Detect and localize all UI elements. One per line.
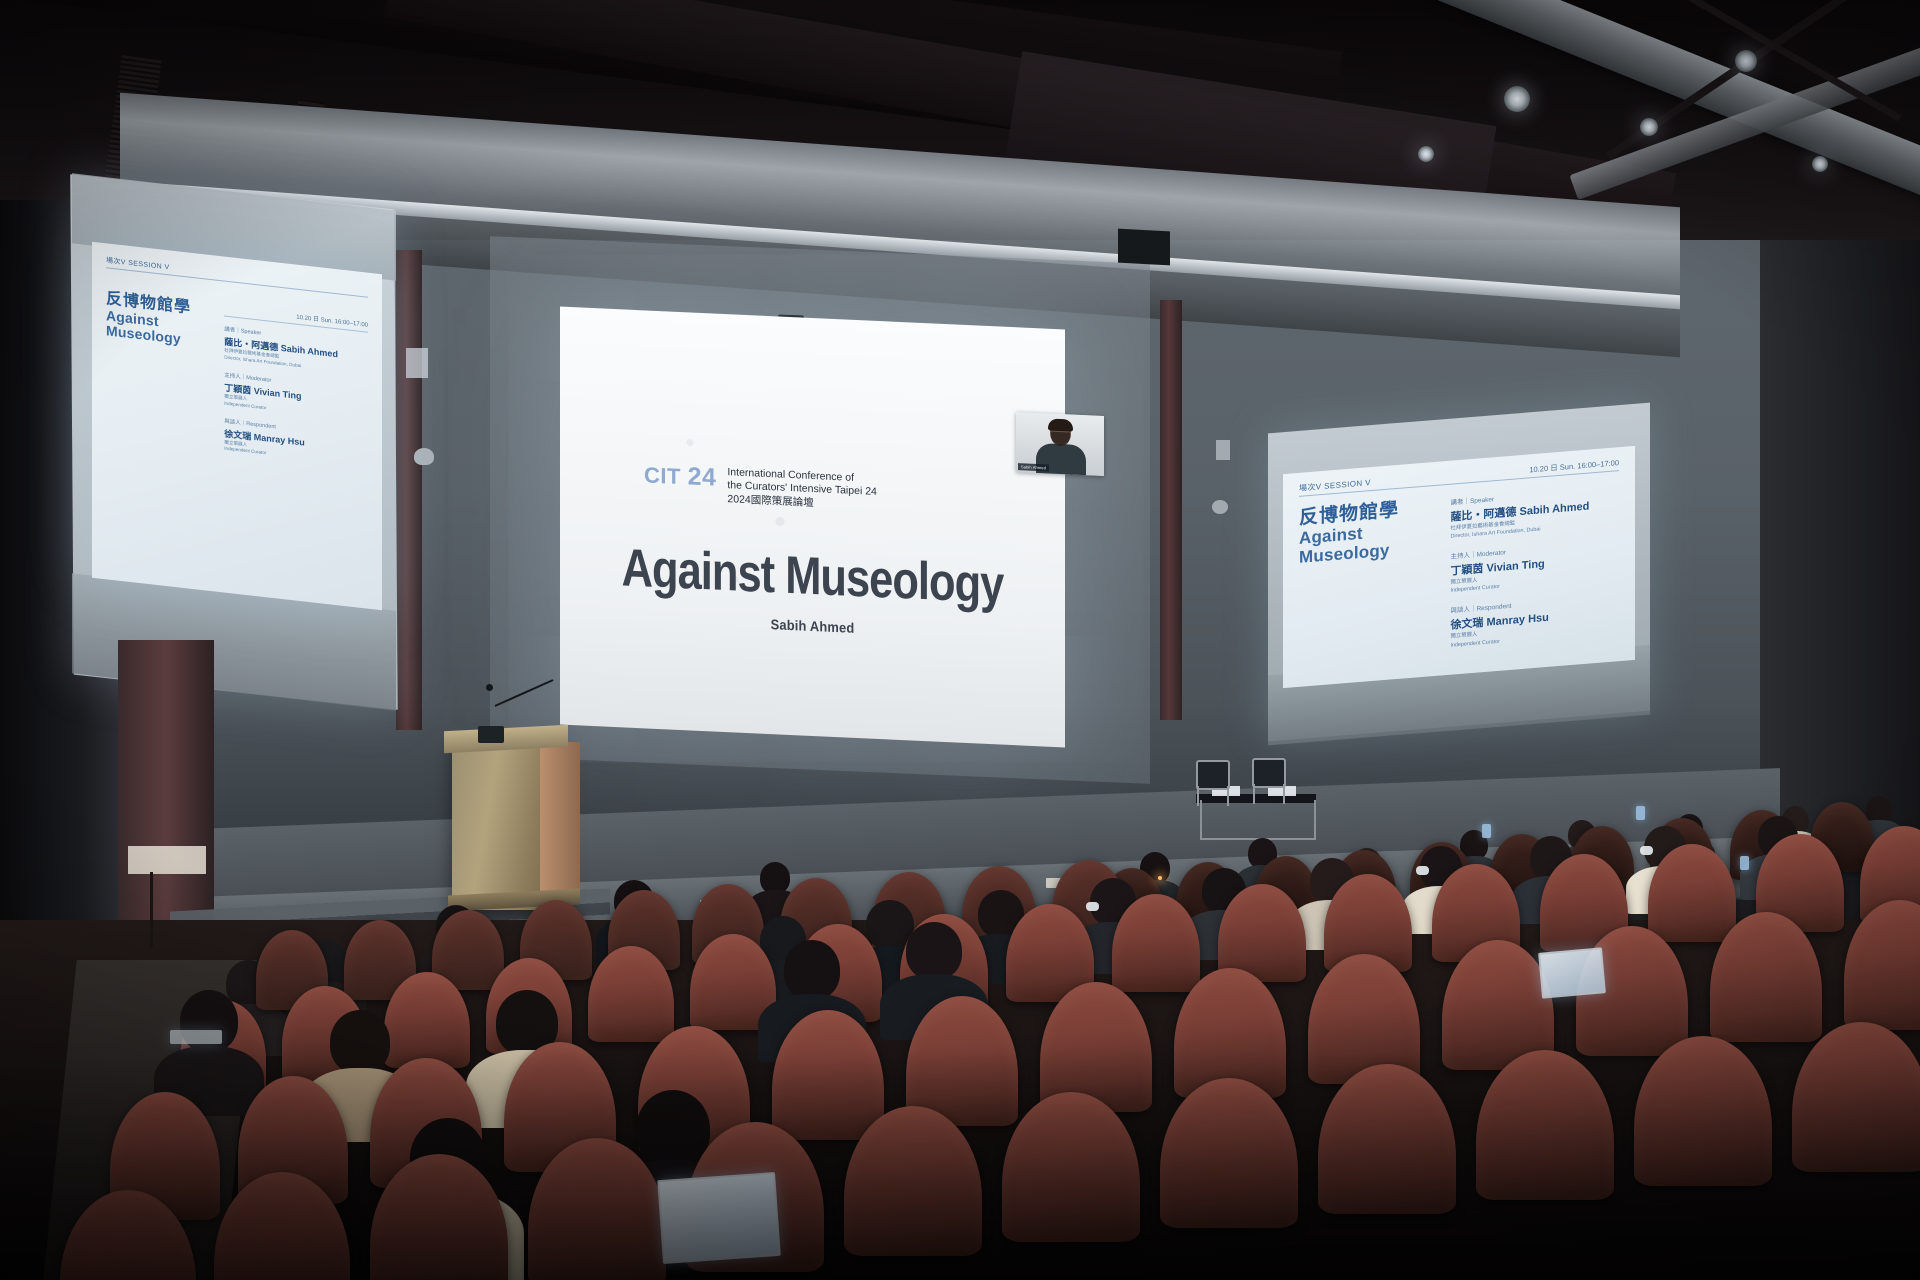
stage-table-legs [1200, 800, 1316, 840]
program-stand-leg [150, 872, 153, 948]
ceiling-downlight-4 [1418, 146, 1434, 162]
left-person-block: 講者｜Speaker 薩比・阿邁德 Sabih Ahmed 杜拜伊夏拉藝術基金會… [224, 325, 368, 378]
wall-sign [406, 348, 428, 378]
left-person-block: 與談人｜Respondent 徐文瑞 Manray Hsu 獨立策展人 Inde… [224, 416, 368, 469]
face-mask [1416, 866, 1429, 875]
ceiling-downlight-1 [1504, 86, 1530, 112]
laptop-screen [659, 1174, 778, 1262]
right-projection-screen: 場次V SESSION V 10.20 日 Sun. 16:00–17:00 反… [1283, 446, 1635, 688]
wall-plate-right [1216, 440, 1230, 460]
face-mask [1640, 846, 1653, 855]
wall-right-dark-panel [1760, 240, 1920, 880]
security-camera-right [1212, 500, 1228, 514]
wall-column-right [1160, 300, 1182, 720]
auditorium-photo: 場次V SESSION V 反博物館學 Against Museology 10… [0, 0, 1920, 1280]
webcam-person-hair [1048, 418, 1073, 431]
podium-control-screen[interactable] [478, 726, 504, 743]
right-person-block: 與談人｜Respondent 徐文瑞 Manray Hsu 獨立策展人 Inde… [1450, 592, 1619, 650]
left-projection-screen: 場次V SESSION V 反博物館學 Against Museology 10… [92, 242, 382, 611]
program-stand [128, 846, 206, 874]
audience-tablet-left[interactable] [170, 1030, 222, 1044]
webcam-name-label: Sabih Ahmed [1018, 463, 1049, 471]
ceiling-downlight-3 [1640, 118, 1658, 136]
ceiling-downlight-5 [1812, 156, 1828, 172]
right-session-datetime: 10.20 日 Sun. 16:00–17:00 [1529, 457, 1619, 475]
left-person-block: 主持人｜Moderator 丁穎茵 Vivian Ting 獨立策展人 Inde… [224, 370, 368, 423]
cit-logo-word: CIT [644, 462, 681, 489]
stage-chair-1 [1194, 760, 1228, 806]
cit-logo-text: CIT 24 [644, 462, 716, 490]
wall-column-left [396, 250, 422, 730]
audience-laptop-center[interactable] [657, 1172, 781, 1264]
right-person-block: 講者｜Speaker 薩比・阿邁德 Sabih Ahmed 杜拜伊夏拉藝術基金會… [1450, 483, 1619, 541]
podium-microphone [486, 684, 493, 691]
security-camera-left [414, 448, 434, 465]
laptop-screen [1540, 949, 1603, 996]
ceiling-downlight-2 [1735, 50, 1757, 72]
left-session-datetime: 10.20 日 Sun. 16:00–17:00 [224, 304, 368, 329]
cit-logo-year: 24 [688, 462, 717, 491]
webcam-video-tile[interactable]: Sabih Ahmed [1016, 412, 1104, 476]
smartphone-right[interactable] [1740, 856, 1749, 870]
podium-side-panel [540, 742, 580, 904]
cit-subtitle: International Conference of the Curators… [727, 466, 876, 513]
face-mask [1086, 902, 1099, 911]
audience-laptop-right[interactable] [1538, 947, 1606, 998]
seat-indicator-light [1158, 876, 1162, 880]
right-person-block: 主持人｜Moderator 丁穎茵 Vivian Ting 獨立策展人 Inde… [1450, 537, 1619, 595]
smartphone [1482, 824, 1491, 838]
stage-chair-2 [1250, 758, 1284, 804]
center-projection-screen: CIT 24 International Conference of the C… [560, 307, 1065, 748]
ceiling-projector-housing [1118, 229, 1170, 266]
smartphone [1636, 806, 1645, 820]
